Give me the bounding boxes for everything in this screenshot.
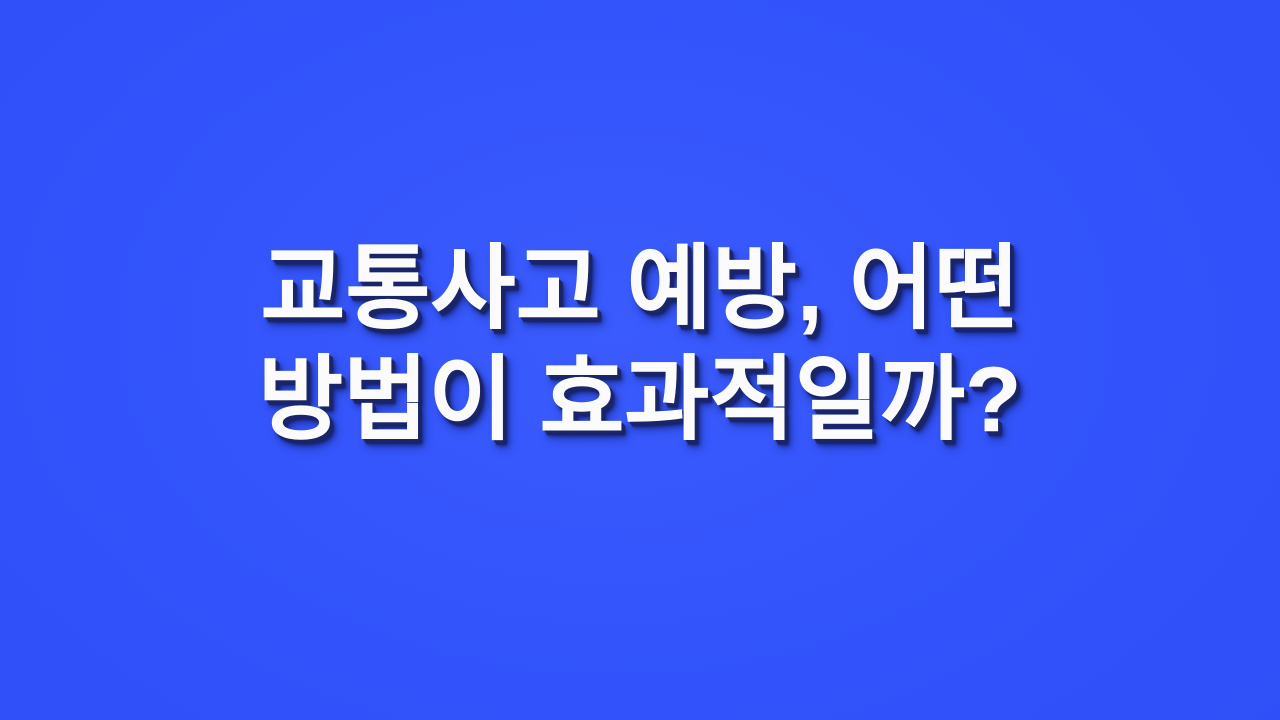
title-slide: 교통사고 예방, 어떤 방법이 효과적일까? xyxy=(0,0,1280,720)
headline-line-1: 교통사고 예방, 어떤 xyxy=(120,237,1160,342)
headline-text-block: 교통사고 예방, 어떤 방법이 효과적일까? xyxy=(120,237,1160,459)
headline-line-2: 방법이 효과적일까? xyxy=(120,348,1160,453)
